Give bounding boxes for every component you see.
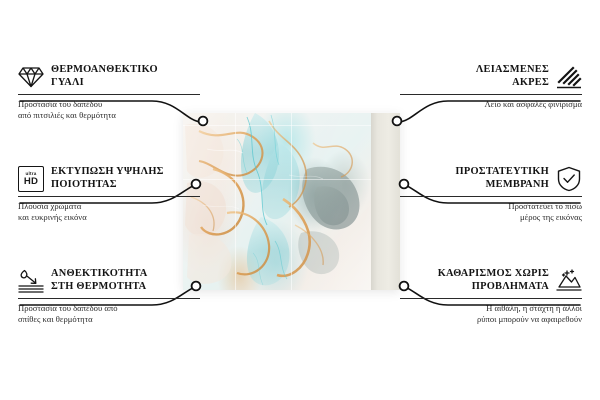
marble-art-svg <box>183 113 371 290</box>
feature-polished-edges: ΛΕΙΑΣΜΕΝΕΣ ΑΚΡΕΣ Λείο και ασφαλές φινίρι… <box>400 64 582 110</box>
shield-check-icon <box>556 166 582 192</box>
feature-description: Προστατεύει το πίσω μέρος της εικόνας <box>400 201 582 223</box>
feature-description: Πλούσια χρώματα και ευκρινής εικόνα <box>18 201 200 223</box>
glass-reflection-line <box>183 179 371 180</box>
feature-protective-membrane: ΠΡΟΣΤΑΤΕΥΤΙΚΗ ΜΕΜΒΡΑΝΗ Προστατεύει το πί… <box>400 166 582 223</box>
product-image <box>183 113 400 290</box>
feature-high-quality-print: ultra HD ΕΚΤΥΠΩΣΗ ΥΨΗΛΗΣ ΠΟΙΟΤΗΤΑΣ Πλούσ… <box>18 166 200 223</box>
polished-edges-icon <box>556 64 582 90</box>
panel-side-edge <box>371 113 400 290</box>
feature-title: ΑΝΘΕΚΤΙΚΟΤΗΤΑ ΣΤΗ ΘΕΡΜΟΤΗΤΑ <box>51 268 147 293</box>
infographic-canvas: ΘΕΡΜΟΑΝΘΕΚΤΙΚΟ ΓΥΑΛΙ Προστασία του δαπέδ… <box>0 0 600 400</box>
feature-easy-cleaning: ΚΑΘΑΡΙΣΜΟΣ ΧΩΡΙΣ ΠΡΟΒΛΗΜΑΤΑ Η αιθάλη, η … <box>400 268 582 325</box>
glass-reflection-line <box>235 113 236 290</box>
title-underline <box>18 94 200 95</box>
feature-description: Λείο και ασφαλές φινίρισμα <box>400 99 582 110</box>
ultra-hd-icon: ultra HD <box>18 166 44 192</box>
feature-title: ΛΕΙΑΣΜΕΝΕΣ ΑΚΡΕΣ <box>476 64 549 89</box>
feature-description: Η αιθάλη, η στάχτη ή άλλοι ρύποι μπορούν… <box>400 303 582 325</box>
title-underline <box>18 196 200 197</box>
diamond-icon <box>18 64 44 90</box>
feature-heat-resistant-glass: ΘΕΡΜΟΑΝΘΕΚΤΙΚΟ ΓΥΑΛΙ Προστασία του δαπέδ… <box>18 64 200 121</box>
heat-resistance-icon <box>18 268 44 294</box>
glass-reflection-line <box>291 113 292 290</box>
title-underline <box>400 298 582 299</box>
glass-reflection-line <box>183 125 371 126</box>
ultra-hd-icon-main-text: HD <box>24 177 38 187</box>
title-underline <box>400 94 582 95</box>
feature-title: ΠΡΟΣΤΑΤΕΥΤΙΚΗ ΜΕΜΒΡΑΝΗ <box>456 166 549 191</box>
marble-artwork <box>183 113 371 290</box>
feature-title: ΘΕΡΜΟΑΝΘΕΚΤΙΚΟ ΓΥΑΛΙ <box>51 64 158 89</box>
title-underline <box>18 298 200 299</box>
feature-title: ΕΚΤΥΠΩΣΗ ΥΨΗΛΗΣ ΠΟΙΟΤΗΤΑΣ <box>51 166 164 191</box>
feature-description: Προστασία του δαπέδου από πιτσιλιές και … <box>18 99 200 121</box>
easy-cleaning-icon <box>556 268 582 294</box>
feature-heat-durability: ΑΝΘΕΚΤΙΚΟΤΗΤΑ ΣΤΗ ΘΕΡΜΟΤΗΤΑ Προστασία το… <box>18 268 200 325</box>
title-underline <box>400 196 582 197</box>
feature-title: ΚΑΘΑΡΙΣΜΟΣ ΧΩΡΙΣ ΠΡΟΒΛΗΜΑΤΑ <box>438 268 549 293</box>
feature-description: Προστασία του δαπέδου από σπίθες και θερ… <box>18 303 200 325</box>
